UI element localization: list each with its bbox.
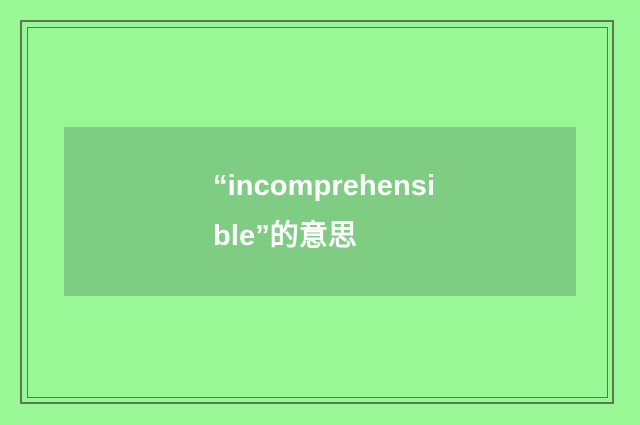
page-title: “incomprehensible”的意思 (213, 162, 445, 262)
poster-canvas: “incomprehensible”的意思 (0, 0, 640, 425)
title-card: “incomprehensible”的意思 (64, 127, 576, 296)
